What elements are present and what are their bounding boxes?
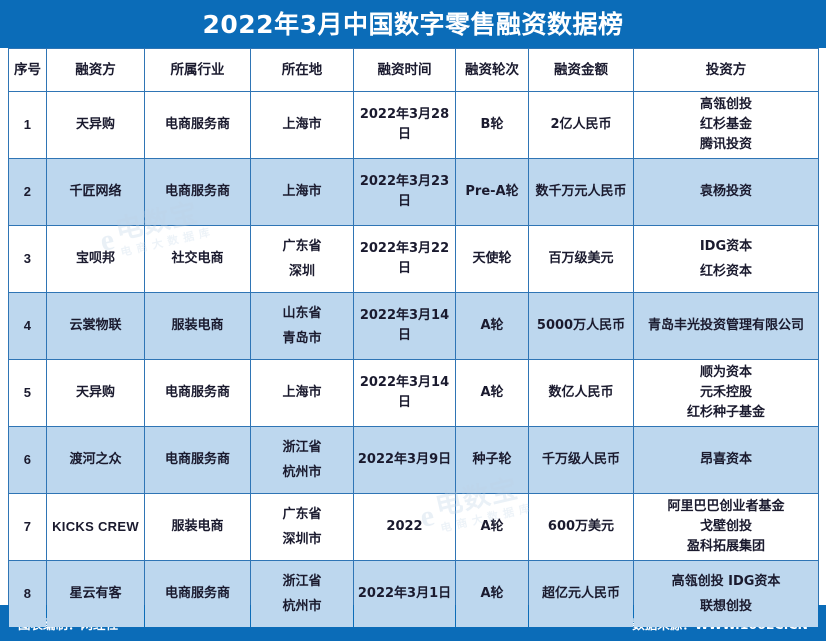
column-header-amount: 融资金额	[529, 49, 634, 92]
table-row: 4云裳物联服装电商山东省青岛市2022年3月14日A轮5000万人民币青岛丰光投…	[9, 293, 819, 360]
cell-company: 天异购	[47, 360, 145, 427]
cell-investor-line: 元禾控股	[637, 383, 815, 403]
cell-investor-line: 红杉资本	[637, 259, 815, 284]
cell-index: 6	[9, 427, 47, 494]
cell-location-line: 青岛市	[254, 326, 350, 351]
cell-date: 2022年3月14日	[354, 360, 456, 427]
cell-location: 上海市	[251, 92, 354, 159]
cell-date: 2022年3月14日	[354, 293, 456, 360]
cell-amount: 2亿人民币	[529, 92, 634, 159]
cell-location-line: 上海市	[254, 115, 350, 135]
cell-index: 5	[9, 360, 47, 427]
cell-investor: 高瓴创投红杉基金腾讯投资	[634, 92, 819, 159]
cell-industry: 社交电商	[145, 226, 251, 293]
cell-investor-line: 戈壁创投	[637, 517, 815, 537]
cell-investor-line: 联想创投	[637, 594, 815, 619]
cell-industry: 服装电商	[145, 293, 251, 360]
table-row: 7KICKS CREW服装电商广东省深圳市2022A轮600万美元阿里巴巴创业者…	[9, 494, 819, 561]
cell-round: Pre-A轮	[456, 159, 529, 226]
cell-amount: 600万美元	[529, 494, 634, 561]
cell-location-line: 浙江省	[254, 435, 350, 460]
cell-industry: 电商服务商	[145, 92, 251, 159]
cell-company: 渡河之众	[47, 427, 145, 494]
column-header-round: 融资轮次	[456, 49, 529, 92]
cell-location: 山东省青岛市	[251, 293, 354, 360]
cell-date: 2022年3月1日	[354, 561, 456, 628]
cell-company: KICKS CREW	[47, 494, 145, 561]
cell-location-line: 广东省	[254, 234, 350, 259]
cell-amount: 数亿人民币	[529, 360, 634, 427]
cell-industry: 电商服务商	[145, 159, 251, 226]
cell-location-line: 深圳	[254, 259, 350, 284]
cell-location: 上海市	[251, 159, 354, 226]
cell-investor: 高瓴创投 IDG资本联想创投	[634, 561, 819, 628]
column-header-index: 序号	[9, 49, 47, 92]
table-row: 8星云有客电商服务商浙江省杭州市2022年3月1日A轮超亿元人民币高瓴创投 ID…	[9, 561, 819, 628]
cell-amount: 数千万元人民币	[529, 159, 634, 226]
title-bar: 2022年3月中国数字零售融资数据榜	[0, 0, 826, 48]
cell-round: A轮	[456, 494, 529, 561]
cell-location: 上海市	[251, 360, 354, 427]
cell-company: 天异购	[47, 92, 145, 159]
cell-investor: 青岛丰光投资管理有限公司	[634, 293, 819, 360]
cell-investor-line: 高瓴创投 IDG资本	[637, 569, 815, 594]
cell-company: 宝呗邦	[47, 226, 145, 293]
cell-round: B轮	[456, 92, 529, 159]
chart-page: 2022年3月中国数字零售融资数据榜 e 电数宝 电商大数据库 e 电数宝 电商…	[0, 0, 826, 641]
table-body: 1天异购电商服务商上海市2022年3月28日B轮2亿人民币高瓴创投红杉基金腾讯投…	[9, 92, 819, 628]
cell-location-line: 杭州市	[254, 594, 350, 619]
cell-company: 云裳物联	[47, 293, 145, 360]
cell-location-line: 杭州市	[254, 460, 350, 485]
cell-investor-line: 红杉种子基金	[637, 403, 815, 423]
cell-location-line: 深圳市	[254, 527, 350, 552]
cell-investor: 袁杨投资	[634, 159, 819, 226]
cell-investor: 顺为资本元禾控股红杉种子基金	[634, 360, 819, 427]
column-header-date: 融资时间	[354, 49, 456, 92]
column-header-location: 所在地	[251, 49, 354, 92]
cell-location: 广东省深圳	[251, 226, 354, 293]
funding-table-wrapper: 序号 融资方 所属行业 所在地 融资时间 融资轮次 融资金额 投资方 1天异购电…	[8, 48, 818, 605]
cell-investor-line: 阿里巴巴创业者基金	[637, 497, 815, 517]
cell-location: 浙江省杭州市	[251, 427, 354, 494]
cell-industry: 服装电商	[145, 494, 251, 561]
cell-round: 种子轮	[456, 427, 529, 494]
cell-investor-line: 昂喜资本	[637, 450, 815, 470]
cell-index: 4	[9, 293, 47, 360]
cell-industry: 电商服务商	[145, 360, 251, 427]
page-title: 2022年3月中国数字零售融资数据榜	[203, 12, 624, 37]
cell-date: 2022年3月9日	[354, 427, 456, 494]
cell-date: 2022年3月22日	[354, 226, 456, 293]
cell-amount: 超亿元人民币	[529, 561, 634, 628]
cell-index: 3	[9, 226, 47, 293]
table-row: 5天异购电商服务商上海市2022年3月14日A轮数亿人民币顺为资本元禾控股红杉种…	[9, 360, 819, 427]
cell-amount: 千万级人民币	[529, 427, 634, 494]
cell-date: 2022年3月23日	[354, 159, 456, 226]
cell-investor: 阿里巴巴创业者基金戈壁创投盈科拓展集团	[634, 494, 819, 561]
cell-amount: 5000万人民币	[529, 293, 634, 360]
cell-round: A轮	[456, 293, 529, 360]
cell-industry: 电商服务商	[145, 427, 251, 494]
cell-index: 1	[9, 92, 47, 159]
cell-location-line: 上海市	[254, 182, 350, 202]
cell-round: A轮	[456, 561, 529, 628]
cell-location-line: 山东省	[254, 301, 350, 326]
cell-investor-line: 红杉基金	[637, 115, 815, 135]
cell-index: 7	[9, 494, 47, 561]
cell-company: 星云有客	[47, 561, 145, 628]
cell-investor-line: 顺为资本	[637, 363, 815, 383]
column-header-company: 融资方	[47, 49, 145, 92]
cell-investor-line: IDG资本	[637, 234, 815, 259]
cell-location: 浙江省杭州市	[251, 561, 354, 628]
cell-amount: 百万级美元	[529, 226, 634, 293]
cell-location-line: 上海市	[254, 383, 350, 403]
table-row: 2千匠网络电商服务商上海市2022年3月23日Pre-A轮数千万元人民币袁杨投资	[9, 159, 819, 226]
cell-round: 天使轮	[456, 226, 529, 293]
cell-date: 2022年3月28日	[354, 92, 456, 159]
table-row: 1天异购电商服务商上海市2022年3月28日B轮2亿人民币高瓴创投红杉基金腾讯投…	[9, 92, 819, 159]
cell-investor: IDG资本红杉资本	[634, 226, 819, 293]
column-header-investor: 投资方	[634, 49, 819, 92]
table-header-row: 序号 融资方 所属行业 所在地 融资时间 融资轮次 融资金额 投资方	[9, 49, 819, 92]
cell-company: 千匠网络	[47, 159, 145, 226]
cell-investor-line: 腾讯投资	[637, 135, 815, 155]
cell-location: 广东省深圳市	[251, 494, 354, 561]
table-row: 3宝呗邦社交电商广东省深圳2022年3月22日天使轮百万级美元IDG资本红杉资本	[9, 226, 819, 293]
cell-investor-line: 袁杨投资	[637, 182, 815, 202]
column-header-industry: 所属行业	[145, 49, 251, 92]
cell-index: 2	[9, 159, 47, 226]
cell-date: 2022	[354, 494, 456, 561]
cell-location-line: 浙江省	[254, 569, 350, 594]
cell-investor-line: 高瓴创投	[637, 95, 815, 115]
cell-index: 8	[9, 561, 47, 628]
cell-round: A轮	[456, 360, 529, 427]
cell-investor-line: 青岛丰光投资管理有限公司	[637, 316, 815, 336]
cell-investor-line: 盈科拓展集团	[637, 537, 815, 557]
table-row: 6渡河之众电商服务商浙江省杭州市2022年3月9日种子轮千万级人民币昂喜资本	[9, 427, 819, 494]
funding-table: 序号 融资方 所属行业 所在地 融资时间 融资轮次 融资金额 投资方 1天异购电…	[8, 48, 819, 628]
cell-location-line: 广东省	[254, 502, 350, 527]
cell-industry: 电商服务商	[145, 561, 251, 628]
cell-investor: 昂喜资本	[634, 427, 819, 494]
